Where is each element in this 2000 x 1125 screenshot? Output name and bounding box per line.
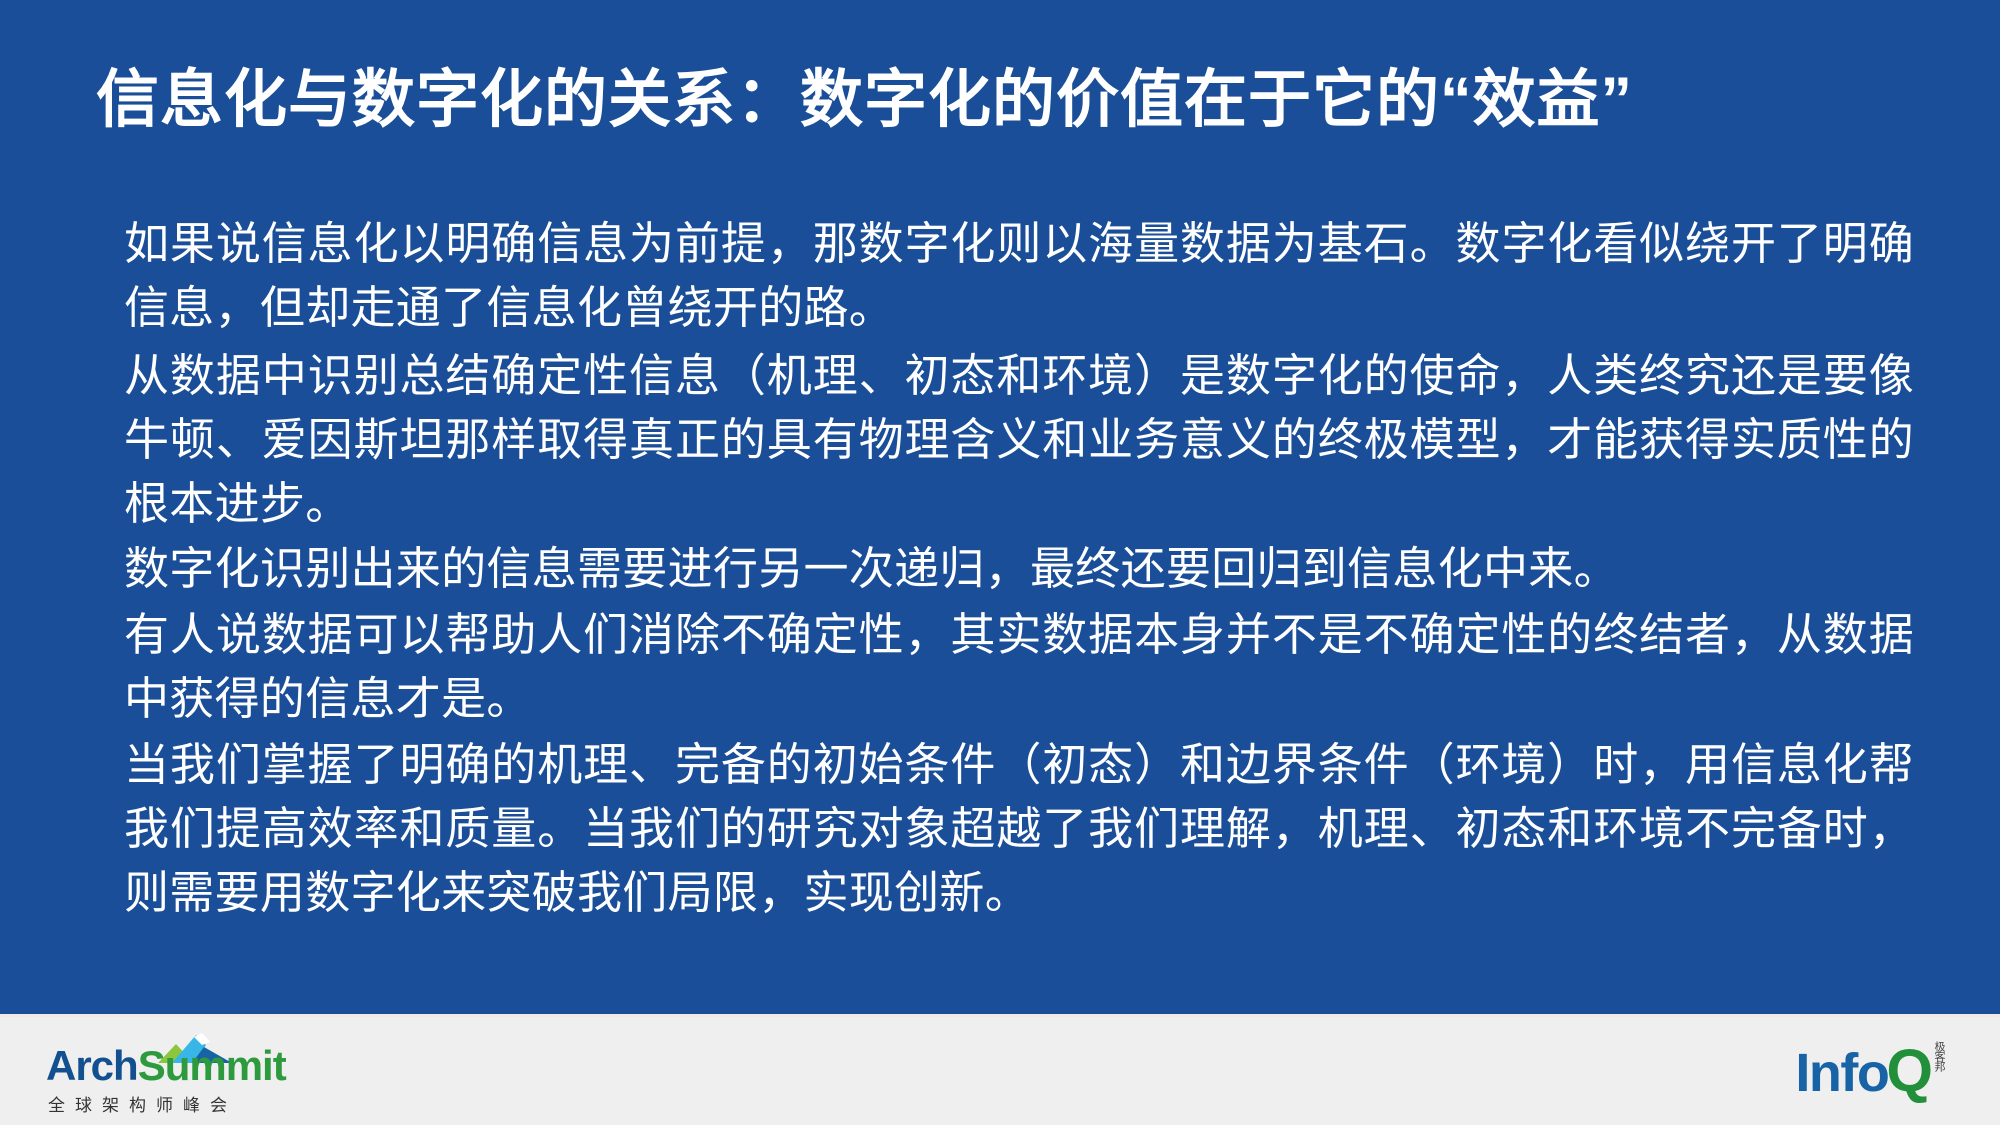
- body-paragraph: 数字化识别出来的信息需要进行另一次递归，最终还要回归到信息化中来。: [124, 537, 1914, 601]
- archsummit-arch-text: Arch: [46, 1042, 138, 1089]
- slide-body: 如果说信息化以明确信息为前提，那数字化则以海量数据为基石。数字化看似绕开了明确信…: [124, 212, 1914, 1002]
- body-paragraph: 从数据中识别总结确定性信息（机理、初态和环境）是数字化的使命，人类终究还是要像牛…: [124, 344, 1914, 536]
- infoq-logo: Info Q 极客邦: [1795, 1037, 1944, 1099]
- presentation-slide: 信息化与数字化的关系：数字化的价值在于它的“效益” 如果说信息化以明确信息为前提…: [0, 0, 2000, 1125]
- body-paragraph: 当我们掌握了明确的机理、完备的初始条件（初态）和边界条件（环境）时，用信息化帮我…: [124, 733, 1914, 925]
- infoq-q-text: Q: [1886, 1042, 1932, 1099]
- archsummit-summit-text: Summit: [138, 1042, 286, 1089]
- infoq-info-text: Info: [1795, 1048, 1888, 1099]
- infoq-cn-suffix: 极客邦: [1933, 1041, 1944, 1085]
- slide-footer: ArchSummit 全球架构师峰会 Info Q 极客邦: [0, 1014, 2000, 1125]
- archsummit-logo: ArchSummit 全球架构师峰会: [46, 1031, 286, 1115]
- slide-title-area: 信息化与数字化的关系：数字化的价值在于它的“效益”: [96, 52, 1926, 148]
- body-paragraph: 有人说数据可以帮助人们消除不确定性，其实数据本身并不是不确定性的终结者，从数据中…: [124, 603, 1914, 731]
- archsummit-wordmark: ArchSummit: [46, 1045, 286, 1087]
- page-title: 信息化与数字化的关系：数字化的价值在于它的“效益”: [96, 69, 1633, 132]
- archsummit-subtitle: 全球架构师峰会: [48, 1091, 237, 1116]
- body-paragraph: 如果说信息化以明确信息为前提，那数字化则以海量数据为基石。数字化看似绕开了明确信…: [124, 212, 1914, 340]
